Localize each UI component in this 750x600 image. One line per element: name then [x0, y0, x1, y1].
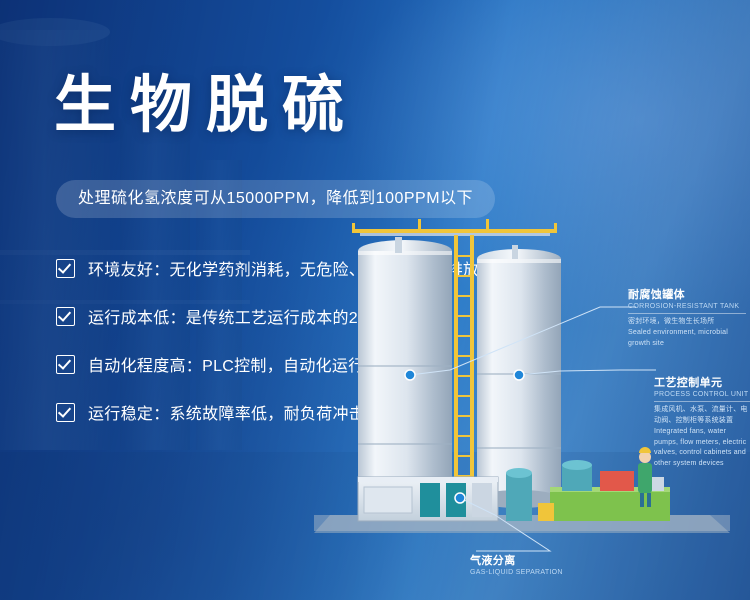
callout-title-en: GAS-LIQUID SEPARATION: [470, 569, 590, 576]
control-cabinet: [358, 477, 498, 521]
checkbox-checked-icon: [56, 259, 75, 278]
callout-desc-en: Integrated fans, water pumps, flow meter…: [654, 427, 750, 470]
callout-gas-liquid-separation: 气液分离 GAS-LIQUID SEPARATION: [470, 552, 590, 576]
callout-divider: [654, 401, 750, 402]
callout-desc-en: Sealed environment, microbial growth sit…: [628, 328, 746, 350]
callout-title-cn: 工艺控制单元: [654, 374, 750, 390]
callout-title-en: CORROSION-RESISTANT TANK: [628, 303, 746, 310]
subtitle-pill: 处理硫化氢浓度可从15000PPM，降低到100PPM以下: [56, 180, 495, 218]
ladder: [454, 235, 474, 501]
callout-desc-cn: 密封环境，微生物生长场所: [628, 317, 746, 328]
callout-desc-cn: 集成风机、水泵、流量计、电动阀、控制柜等系统装置: [654, 405, 750, 427]
checkbox-checked-icon: [56, 307, 75, 326]
callout-title-cn: 气液分离: [470, 552, 590, 568]
callout-process-control-unit: 工艺控制单元 PROCESS CONTROL UNIT 集成风机、水泵、流量计、…: [654, 374, 750, 470]
callout-divider: [628, 313, 746, 314]
page-title: 生物脱硫: [54, 74, 358, 136]
checkbox-checked-icon: [56, 403, 75, 422]
checkbox-checked-icon: [56, 355, 75, 374]
callout-title-en: PROCESS CONTROL UNIT: [654, 391, 750, 398]
top-walkway-railing: [352, 219, 557, 236]
callout-title-cn: 耐腐蚀罐体: [628, 286, 746, 302]
separator-vessel: [506, 468, 532, 521]
callout-corrosion-resistant-tank: 耐腐蚀罐体 CORROSION-RESISTANT TANK 密封环境，微生物生…: [628, 286, 746, 350]
